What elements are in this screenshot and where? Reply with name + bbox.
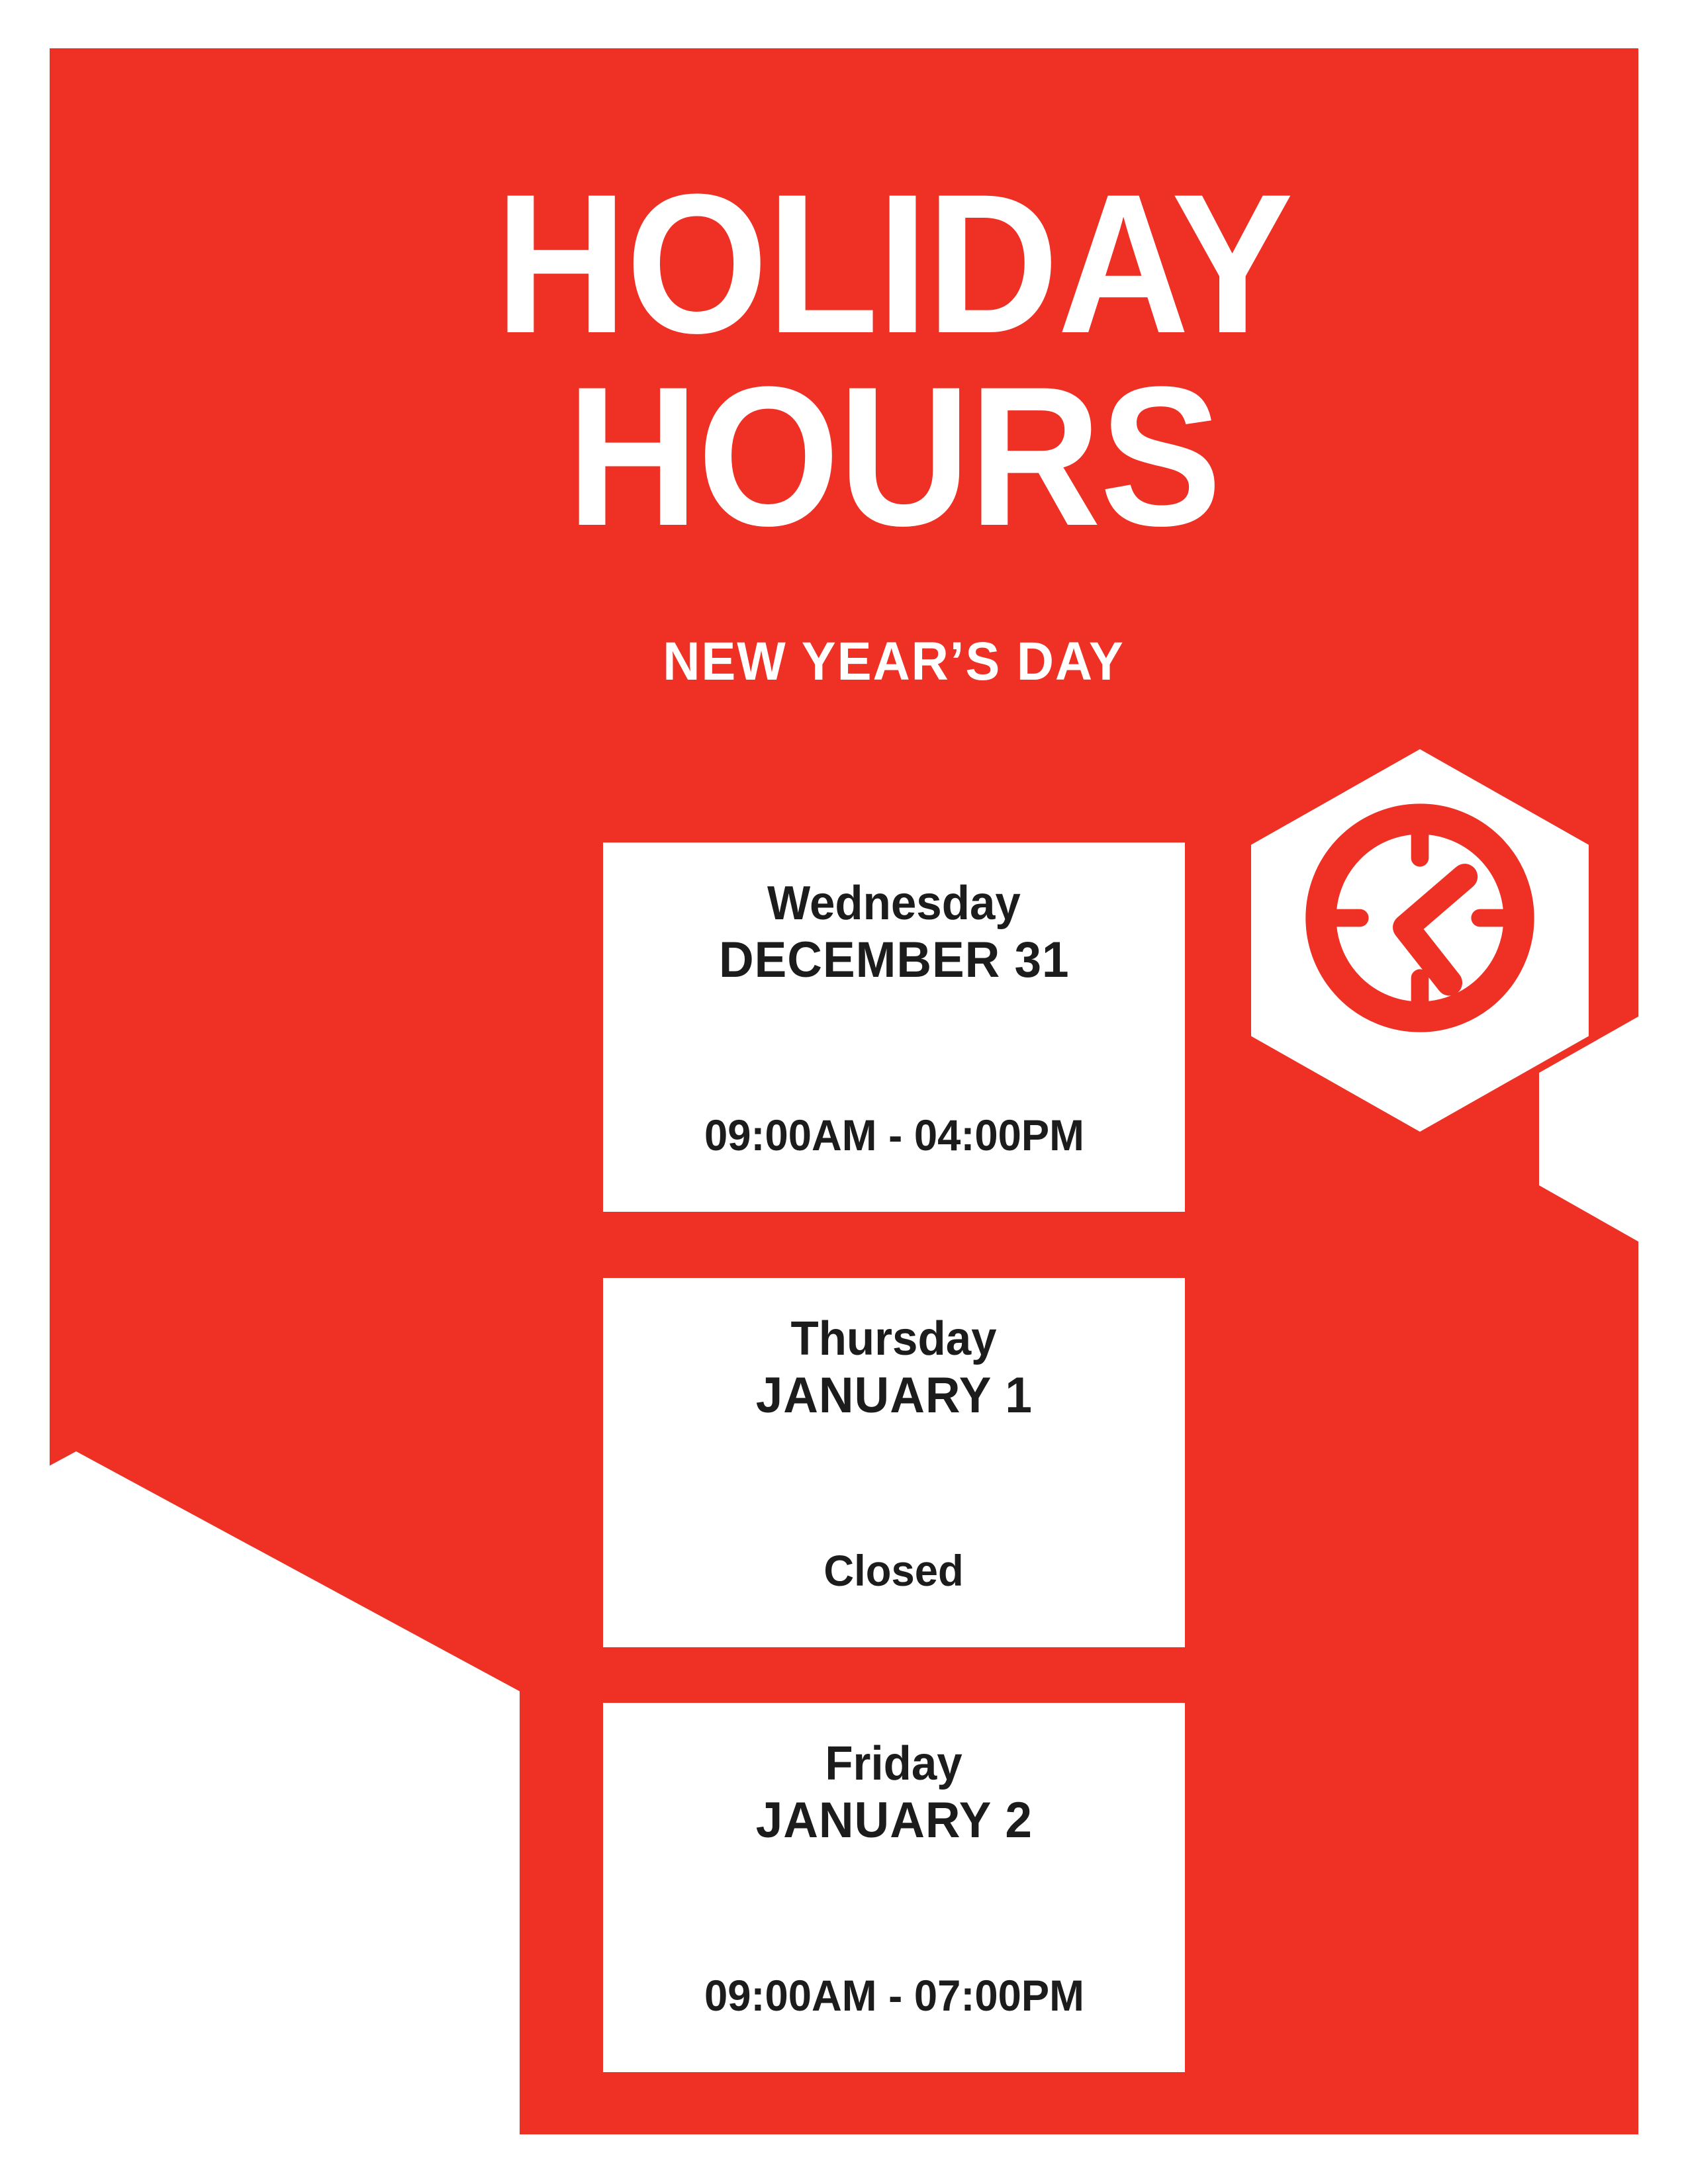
schedule-card-hours: 09:00AM - 07:00PM	[704, 1970, 1084, 2021]
schedule-card: Friday JANUARY 2 09:00AM - 07:00PM	[603, 1703, 1185, 2072]
schedule-card-day: Friday	[825, 1737, 962, 1791]
page-subtitle: NEW YEAR’S DAY	[139, 631, 1638, 693]
schedule-card-hours: 09:00AM - 04:00PM	[704, 1110, 1084, 1160]
schedule-card-day: Thursday	[791, 1312, 997, 1366]
schedule-card-date: JANUARY 1	[755, 1366, 1032, 1426]
clock-icon	[1302, 800, 1538, 1036]
schedule-card-date: JANUARY 2	[755, 1791, 1032, 1850]
schedule-card-day: Wednesday	[767, 877, 1021, 931]
page-title: HOLIDAY HOURS	[99, 167, 1638, 553]
schedule-card-hours: Closed	[824, 1545, 964, 1596]
holiday-hours-poster: HOLIDAY HOURS NEW YEAR’S DAY Wednesday D…	[0, 0, 1688, 2184]
title-line-hours: HOURS	[163, 360, 1624, 553]
schedule-card-date: DECEMBER 31	[719, 931, 1070, 990]
title-line-holiday: HOLIDAY	[163, 167, 1624, 360]
poster-background-panel: HOLIDAY HOURS NEW YEAR’S DAY Wednesday D…	[50, 48, 1638, 2134]
schedule-card: Wednesday DECEMBER 31 09:00AM - 04:00PM	[603, 842, 1185, 1212]
schedule-card: Thursday JANUARY 1 Closed	[603, 1278, 1185, 1647]
hexagon-shape-bottom-left	[50, 1451, 520, 2134]
